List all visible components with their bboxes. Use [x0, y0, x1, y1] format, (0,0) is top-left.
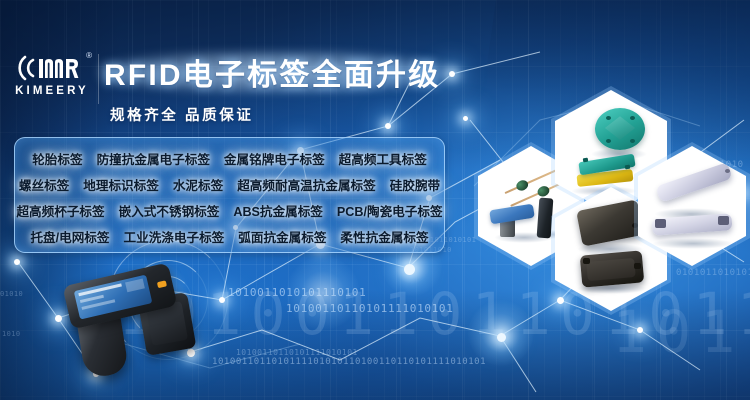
- logo-mark: ®: [9, 52, 95, 84]
- network-node: [385, 123, 391, 129]
- handheld-rfid-reader: [44, 266, 214, 378]
- reader-screen: [74, 275, 153, 320]
- rfid-product-banner: 1010011011010111101010110100110110101111…: [0, 0, 750, 400]
- network-node: [557, 297, 564, 304]
- tag-item[interactable]: 超高频杯子标签: [16, 201, 104, 220]
- tag-item[interactable]: 水泥标签: [173, 175, 223, 194]
- network-node: [14, 259, 20, 265]
- tag-item[interactable]: 弧面抗金属标签: [238, 227, 326, 246]
- dark-abs-tag-photo-2: [579, 247, 649, 289]
- page-title: RFID电子标签全面升级: [104, 50, 440, 94]
- tag-item[interactable]: 防撞抗金属电子标签: [97, 149, 210, 168]
- teal-disc-tag-photo: [595, 104, 645, 152]
- tag-item[interactable]: 工业洗涤电子标签: [124, 227, 225, 246]
- tag-row-3: 超高频杯子标签 嵌入式不锈钢标签 ABS抗金属标签 PCB/陶瓷电子标签: [15, 201, 444, 220]
- subtitle: 规格齐全 品质保证: [110, 104, 253, 125]
- registered-mark: ®: [86, 51, 92, 60]
- tag-row-1: 轮胎标签 防撞抗金属电子标签 金属铭牌电子标签 超高频工具标签: [15, 149, 444, 168]
- network-glow: [468, 300, 534, 366]
- brand-logo[interactable]: ® KIMEERY: [9, 52, 95, 108]
- tag-item[interactable]: 嵌入式不锈钢标签: [119, 201, 220, 220]
- reader-trigger-indicator: [157, 280, 167, 288]
- tag-row-2: 螺丝标签 地理标识标签 水泥标签 超高频耐高温抗金属标签 硅胶腕带: [15, 175, 444, 194]
- signal-wave-logo-icon: [9, 52, 95, 84]
- network-glow: [286, 256, 360, 330]
- bar-tag-photo: [537, 198, 554, 239]
- tag-item[interactable]: 金属铭牌电子标签: [224, 149, 325, 168]
- brand-name: KIMEERY: [9, 85, 95, 97]
- tag-item[interactable]: 柔性抗金属标签: [340, 227, 428, 246]
- screw-tag-photo: [488, 204, 536, 238]
- tag-item[interactable]: 托盘/电网标签: [30, 227, 109, 246]
- tag-item[interactable]: 螺丝标签: [19, 175, 69, 194]
- tag-row-4: 托盘/电网标签 工业洗涤电子标签 弧面抗金属标签 柔性抗金属标签: [15, 227, 444, 246]
- headline-block: RFID电子标签全面升级: [104, 49, 440, 95]
- tag-item[interactable]: PCB/陶瓷电子标签: [337, 201, 443, 220]
- white-uhf-tag-photo-2: [648, 202, 738, 244]
- product-tag-panel: 轮胎标签 防撞抗金属电子标签 金属铭牌电子标签 超高频工具标签 螺丝标签 地理标…: [14, 137, 445, 253]
- tag-item[interactable]: 硅胶腕带: [390, 175, 440, 194]
- network-node: [637, 327, 643, 333]
- tag-item[interactable]: 超高频耐高温抗金属标签: [237, 175, 376, 194]
- tag-item[interactable]: 轮胎标签: [32, 149, 82, 168]
- teal-bar-tag-photo: [577, 152, 639, 178]
- tag-item[interactable]: ABS抗金属标签: [233, 201, 323, 220]
- tag-item[interactable]: 地理标识标签: [83, 175, 159, 194]
- network-node: [463, 116, 468, 121]
- tag-item[interactable]: 超高频工具标签: [339, 149, 427, 168]
